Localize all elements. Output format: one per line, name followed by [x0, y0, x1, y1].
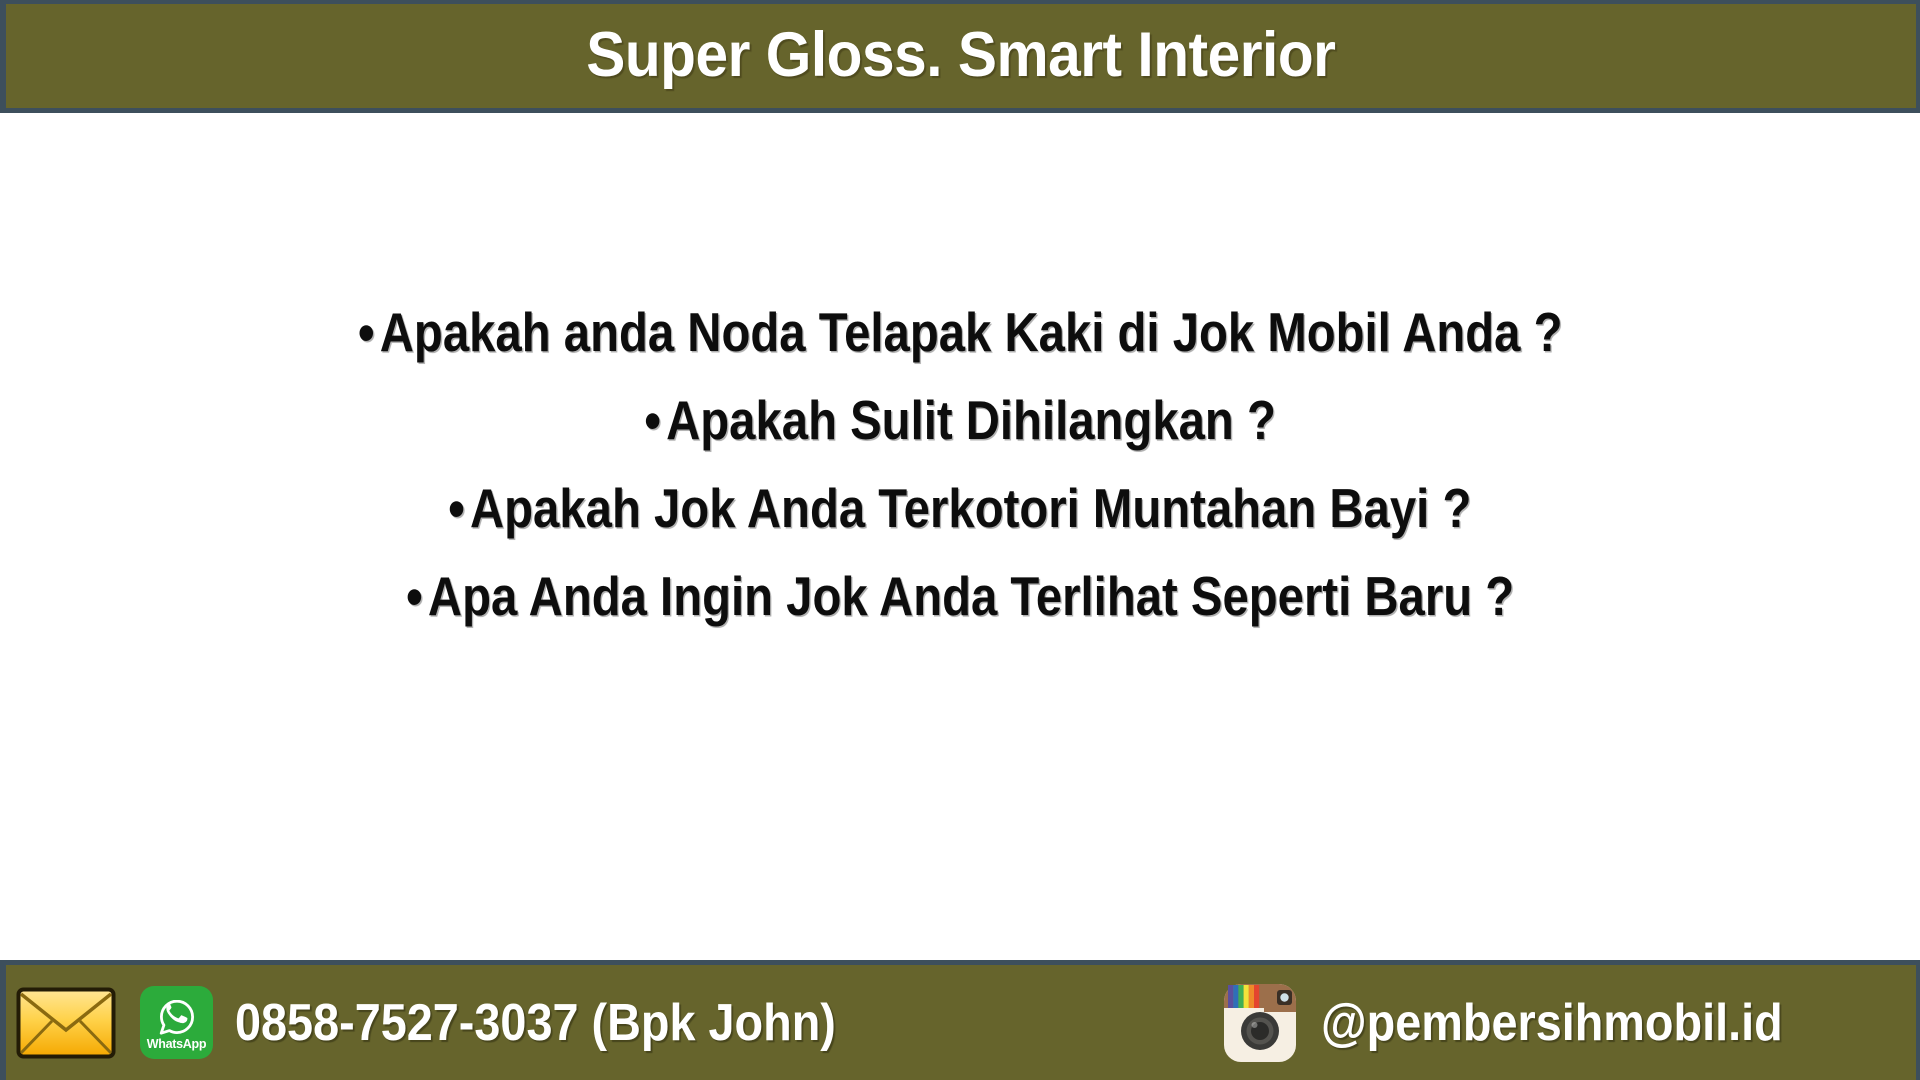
instagram-handle[interactable]: @pembersihmobil.id: [1321, 993, 1783, 1053]
list-item: •Apakah Sulit Dihilangkan ?: [644, 376, 1275, 464]
slide-header-bar: Super Gloss. Smart Interior: [0, 0, 1920, 113]
list-item-label: Apakah Jok Anda Terkotori Muntahan Bayi …: [470, 477, 1471, 539]
phone-number[interactable]: 0858-7527-3037 (Bpk John): [235, 993, 836, 1053]
list-item-label: Apakah Sulit Dihilangkan ?: [666, 389, 1276, 451]
footer-social-group: @pembersihmobil.id: [1221, 981, 1834, 1065]
bullet-list: •Apakah anda Noda Telapak Kaki di Jok Mo…: [0, 288, 1920, 640]
whatsapp-icon-label: WhatsApp: [147, 1038, 206, 1051]
whatsapp-icon[interactable]: WhatsApp: [140, 986, 213, 1059]
bullet-marker-icon: •: [406, 552, 423, 640]
bullet-marker-icon: •: [448, 464, 465, 552]
page-title: Super Gloss. Smart Interior: [586, 24, 1335, 87]
slide-footer-bar: WhatsApp 0858-7527-3037 (Bpk John): [0, 960, 1920, 1080]
presentation-slide: Super Gloss. Smart Interior •Apakah anda…: [0, 0, 1920, 1080]
list-item: •Apakah Jok Anda Terkotori Muntahan Bayi…: [448, 464, 1471, 552]
bullet-marker-icon: •: [358, 288, 375, 376]
slide-body: •Apakah anda Noda Telapak Kaki di Jok Mo…: [0, 113, 1920, 960]
list-item: •Apakah anda Noda Telapak Kaki di Jok Mo…: [358, 288, 1562, 376]
instagram-icon[interactable]: [1221, 981, 1299, 1065]
envelope-icon: [16, 987, 116, 1059]
list-item-label: Apa Anda Ingin Jok Anda Terlihat Seperti…: [428, 565, 1514, 627]
list-item-label: Apakah anda Noda Telapak Kaki di Jok Mob…: [379, 301, 1562, 363]
bullet-marker-icon: •: [644, 376, 661, 464]
footer-contact-group: WhatsApp 0858-7527-3037 (Bpk John): [16, 986, 903, 1059]
list-item: •Apa Anda Ingin Jok Anda Terlihat Sepert…: [406, 552, 1514, 640]
